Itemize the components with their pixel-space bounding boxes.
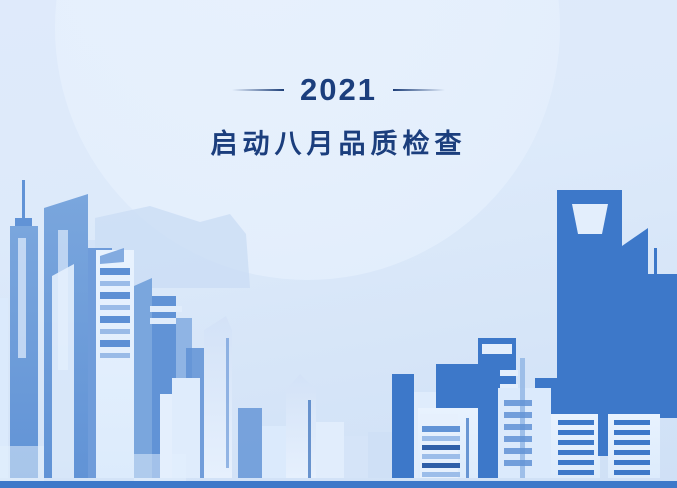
poster-title: 启动八月品质检查: [0, 122, 677, 161]
year-row: 2021: [0, 70, 677, 110]
poster-canvas: 2021 启动八月品质检查: [0, 0, 677, 488]
decorative-line-left-icon: [232, 89, 284, 91]
ground-baseline-strip: [0, 481, 677, 488]
city-skyline-illustration: [0, 178, 677, 488]
poster-year: 2021: [300, 70, 377, 110]
decorative-line-right-icon: [393, 89, 445, 91]
skyline-svg: [0, 178, 677, 488]
poster-header: 2021 启动八月品质检查: [0, 70, 677, 161]
skyline-right-center-striped-tower: [418, 408, 478, 478]
